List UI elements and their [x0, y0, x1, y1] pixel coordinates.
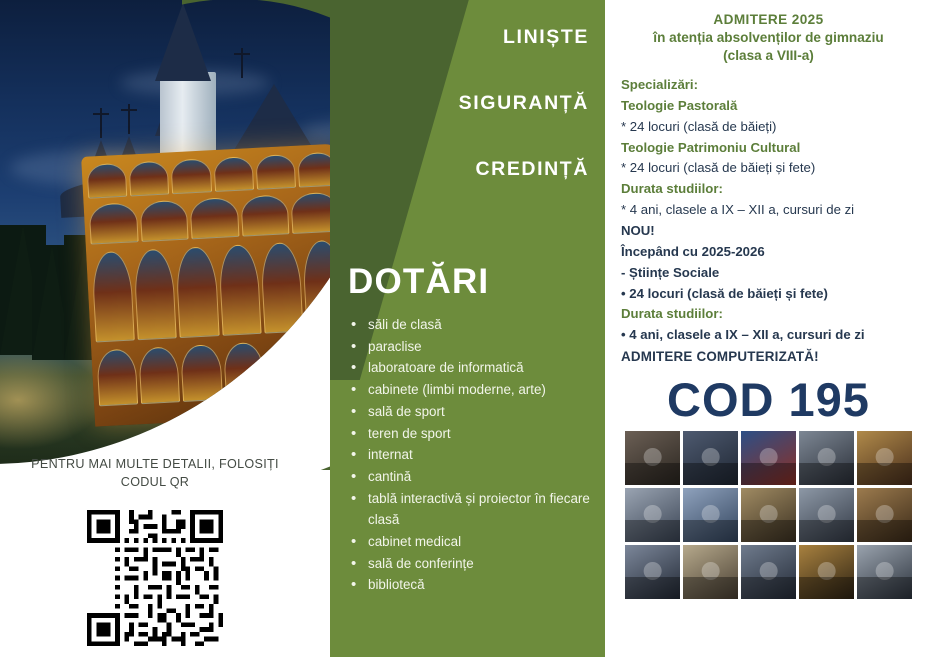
facilities-list: săli de clasă paraclise laboratoare de i…: [348, 314, 605, 596]
study-duration-value-2: • 4 ani, clasele a IX – XII a, cursuri d…: [621, 325, 916, 346]
qr-section: PENTRU MAI MULTE DETALII, FOLOSIȚI CODUL…: [0, 455, 310, 646]
starting-year: Începând cu 2025-2026: [621, 242, 916, 263]
gallery-thumb: [857, 431, 912, 485]
gallery-thumb: [683, 488, 738, 542]
qr-code-icon: [87, 510, 223, 646]
gallery-thumb: [741, 431, 796, 485]
admissions-panel: ADMITERE 2025 în atenția absolvenților d…: [605, 0, 930, 657]
facilities-block: DOTĂRI săli de clasă paraclise laboratoa…: [348, 262, 605, 596]
admissions-body: Specializări: Teologie Pastorală * 24 lo…: [621, 75, 916, 367]
qr-caption: PENTRU MAI MULTE DETALII, FOLOSIȚI CODUL…: [0, 455, 310, 492]
keyword-credinta: CREDINȚĂ: [459, 158, 589, 181]
study-duration-label-2: Durata studiilor:: [621, 304, 916, 325]
program-cultural-heritage: Teologie Patrimoniu Cultural: [621, 138, 916, 159]
social-sciences-seats: • 24 locuri (clasă de băieți și fete): [621, 284, 916, 305]
keyword-siguranta: SIGURANȚĂ: [459, 92, 589, 115]
poster-root: PENTRU MAI MULTE DETALII, FOLOSIȚI CODUL…: [0, 0, 930, 657]
gallery-thumb: [857, 545, 912, 599]
computerized-admission: ADMITERE COMPUTERIZATĂ!: [621, 346, 916, 367]
gallery-thumb: [683, 545, 738, 599]
qr-code[interactable]: [87, 510, 223, 646]
list-item: tablă interactivă și proiector în fiecar…: [348, 488, 605, 531]
gallery-thumb: [741, 488, 796, 542]
gallery-thumb: [625, 545, 680, 599]
list-item: bibliotecă: [348, 574, 605, 596]
program-pastoral-theology: Teologie Pastorală: [621, 96, 916, 117]
new-badge: NOU!: [621, 221, 916, 242]
list-item: paraclise: [348, 336, 605, 358]
admissions-header: ADMITERE 2025 în atenția absolvenților d…: [621, 12, 916, 63]
admissions-grade-note: (clasa a VIII-a): [621, 48, 916, 63]
gallery-thumb: [741, 545, 796, 599]
keyword-liniste: LINIȘTE: [459, 26, 589, 49]
gallery-thumb: [799, 431, 854, 485]
keywords-list: LINIȘTE SIGURANȚĂ CREDINȚĂ: [459, 26, 589, 224]
specializations-label: Specializări:: [621, 75, 916, 96]
heritage-seats: * 24 locuri (clasă de băieți și fete): [621, 158, 916, 179]
gallery-thumb: [799, 488, 854, 542]
list-item: cabinet medical: [348, 531, 605, 553]
list-item: sală de sport: [348, 401, 605, 423]
list-item: cantină: [348, 466, 605, 488]
photo-gallery-grid: [621, 431, 916, 599]
facilities-title: DOTĂRI: [348, 262, 605, 302]
pastoral-seats: * 24 locuri (clasă de băieți): [621, 117, 916, 138]
green-feature-panel: LINIȘTE SIGURANȚĂ CREDINȚĂ DOTĂRI săli d…: [330, 0, 605, 657]
list-item: sală de conferințe: [348, 553, 605, 575]
list-item: cabinete (limbi moderne, arte): [348, 379, 605, 401]
gallery-thumb: [683, 431, 738, 485]
program-social-sciences: - Științe Sociale: [621, 263, 916, 284]
gallery-thumb: [857, 488, 912, 542]
painted-church-facade: [81, 143, 355, 426]
list-item: internat: [348, 444, 605, 466]
list-item: laboratoare de informatică: [348, 357, 605, 379]
admission-code: COD 195: [621, 376, 916, 423]
admissions-subtitle: în atenția absolvenților de gimnaziu: [621, 30, 916, 45]
gallery-thumb: [625, 488, 680, 542]
gallery-thumb: [625, 431, 680, 485]
gallery-thumb: [799, 545, 854, 599]
study-duration-value-1: * 4 ani, clasele a IX – XII a, cursuri d…: [621, 200, 916, 221]
study-duration-label-1: Durata studiilor:: [621, 179, 916, 200]
list-item: teren de sport: [348, 423, 605, 445]
admissions-title: ADMITERE 2025: [621, 12, 916, 27]
list-item: săli de clasă: [348, 314, 605, 336]
